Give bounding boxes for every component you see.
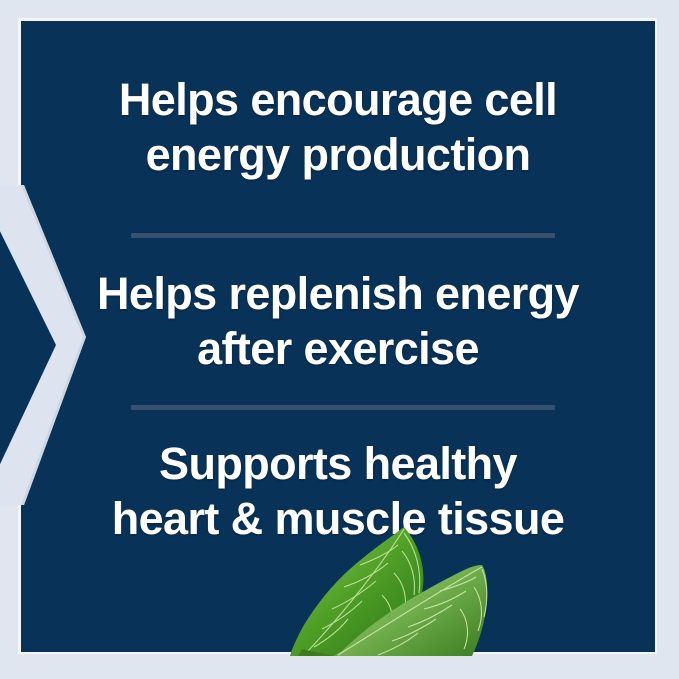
benefit-3-line-2: heart & muscle tissue xyxy=(49,491,627,546)
benefit-divider-2 xyxy=(131,405,555,410)
benefit-item-2: Helps replenish energy after exercise xyxy=(21,266,655,376)
benefit-1-line-1: Helps encourage cell xyxy=(49,72,627,127)
benefit-2-line-1: Helps replenish energy xyxy=(49,266,627,321)
benefits-graphic: Helps encourage cell energy production H… xyxy=(0,0,679,679)
benefit-item-3: Supports healthy heart & muscle tissue xyxy=(21,436,655,546)
benefit-1-line-2: energy production xyxy=(49,127,627,182)
benefit-divider-1 xyxy=(131,233,555,238)
benefit-3-line-1: Supports healthy xyxy=(49,436,627,491)
benefit-item-1: Helps encourage cell energy production xyxy=(21,72,655,182)
benefit-2-line-2: after exercise xyxy=(49,321,627,376)
benefit-list: Helps encourage cell energy production H… xyxy=(21,21,655,652)
